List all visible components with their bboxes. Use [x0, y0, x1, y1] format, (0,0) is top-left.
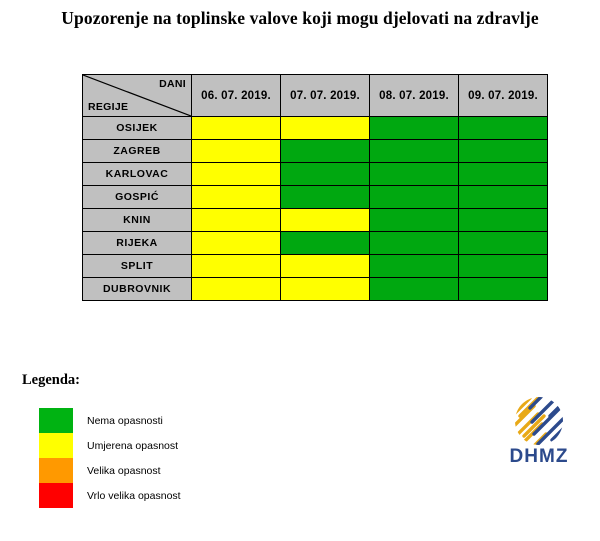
- region-label-osijek: OSIJEK: [83, 117, 192, 140]
- table-corner-header: DANI REGIJE: [83, 75, 192, 117]
- legend-swatch-high: [39, 458, 73, 483]
- level-cell-knin-day-1: [192, 209, 281, 232]
- table-row: KNIN: [83, 209, 548, 232]
- legend-swatch-moderate: [39, 433, 73, 458]
- level-cell-osijek-day-4: [459, 117, 548, 140]
- level-cell-gospic-day-4: [459, 186, 548, 209]
- region-label-knin: KNIN: [83, 209, 192, 232]
- level-cell-gospic-day-1: [192, 186, 281, 209]
- legend-item-very-high: Vrlo velika opasnost: [22, 483, 181, 508]
- level-cell-dubrovnik-day-2: [281, 278, 370, 301]
- page-title: Upozorenje na toplinske valove koji mogu…: [0, 8, 600, 29]
- legend-swatch-none: [39, 408, 73, 433]
- level-cell-karlovac-day-1: [192, 163, 281, 186]
- region-label-split: SPLIT: [83, 255, 192, 278]
- level-cell-split-day-3: [370, 255, 459, 278]
- legend: Legenda: Nema opasnosti Umjerena opasnos…: [22, 372, 181, 508]
- corner-regions-label: REGIJE: [88, 101, 128, 113]
- level-cell-zagreb-day-4: [459, 140, 548, 163]
- level-cell-zagreb-day-3: [370, 140, 459, 163]
- column-header-day-2: 07. 07. 2019.: [281, 75, 370, 117]
- heat-wave-warning-table: DANI REGIJE 06. 07. 2019. 07. 07. 2019. …: [82, 74, 548, 301]
- corner-days-label: DANI: [159, 78, 186, 90]
- legend-item-none: Nema opasnosti: [22, 408, 181, 433]
- region-label-dubrovnik: DUBROVNIK: [83, 278, 192, 301]
- level-cell-osijek-day-3: [370, 117, 459, 140]
- level-cell-rijeka-day-3: [370, 232, 459, 255]
- legend-item-high: Velika opasnost: [22, 458, 181, 483]
- level-cell-karlovac-day-4: [459, 163, 548, 186]
- dhmz-logo: DHMZ: [496, 396, 582, 472]
- level-cell-karlovac-day-2: [281, 163, 370, 186]
- column-header-day-1: 06. 07. 2019.: [192, 75, 281, 117]
- table-row: DUBROVNIK: [83, 278, 548, 301]
- level-cell-zagreb-day-2: [281, 140, 370, 163]
- level-cell-dubrovnik-day-4: [459, 278, 548, 301]
- level-cell-rijeka-day-1: [192, 232, 281, 255]
- table-row: RIJEKA: [83, 232, 548, 255]
- level-cell-split-day-2: [281, 255, 370, 278]
- region-label-zagreb: ZAGREB: [83, 140, 192, 163]
- level-cell-dubrovnik-day-3: [370, 278, 459, 301]
- table-header-row: DANI REGIJE 06. 07. 2019. 07. 07. 2019. …: [83, 75, 548, 117]
- level-cell-osijek-day-1: [192, 117, 281, 140]
- region-label-gospic: GOSPIĆ: [83, 186, 192, 209]
- level-cell-rijeka-day-4: [459, 232, 548, 255]
- level-cell-rijeka-day-2: [281, 232, 370, 255]
- legend-swatch-very-high: [39, 483, 73, 508]
- column-header-day-4: 09. 07. 2019.: [459, 75, 548, 117]
- table-row: SPLIT: [83, 255, 548, 278]
- table-row: KARLOVAC: [83, 163, 548, 186]
- legend-label-moderate: Umjerena opasnost: [87, 440, 178, 452]
- legend-title: Legenda:: [22, 372, 181, 389]
- region-label-karlovac: KARLOVAC: [83, 163, 192, 186]
- legend-label-high: Velika opasnost: [87, 465, 161, 477]
- table-row: OSIJEK: [83, 117, 548, 140]
- column-header-day-3: 08. 07. 2019.: [370, 75, 459, 117]
- level-cell-dubrovnik-day-1: [192, 278, 281, 301]
- table-row: GOSPIĆ: [83, 186, 548, 209]
- legend-item-moderate: Umjerena opasnost: [22, 433, 181, 458]
- level-cell-split-day-4: [459, 255, 548, 278]
- level-cell-zagreb-day-1: [192, 140, 281, 163]
- region-label-rijeka: RIJEKA: [83, 232, 192, 255]
- table-body: DANI REGIJE 06. 07. 2019. 07. 07. 2019. …: [83, 75, 548, 301]
- legend-label-very-high: Vrlo velika opasnost: [87, 490, 181, 502]
- legend-label-none: Nema opasnosti: [87, 415, 163, 427]
- level-cell-gospic-day-2: [281, 186, 370, 209]
- level-cell-osijek-day-2: [281, 117, 370, 140]
- level-cell-gospic-day-3: [370, 186, 459, 209]
- level-cell-knin-day-4: [459, 209, 548, 232]
- level-cell-karlovac-day-3: [370, 163, 459, 186]
- dhmz-globe-icon: [510, 396, 568, 448]
- level-cell-knin-day-3: [370, 209, 459, 232]
- dhmz-wordmark: DHMZ: [496, 446, 582, 468]
- level-cell-split-day-1: [192, 255, 281, 278]
- level-cell-knin-day-2: [281, 209, 370, 232]
- table-row: ZAGREB: [83, 140, 548, 163]
